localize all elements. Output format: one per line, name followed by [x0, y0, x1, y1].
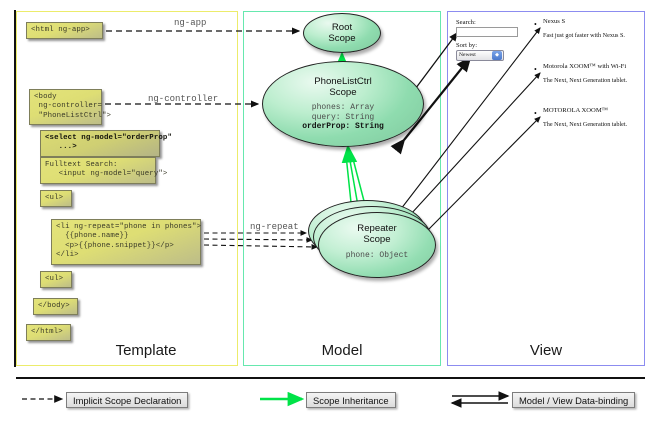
view-search-input[interactable] [456, 27, 518, 37]
scope-root: Root Scope [303, 13, 381, 53]
code-box-body: <body ng-controller= "PhoneListCtrl"> [29, 89, 102, 125]
view-phone-name: Motorola XOOM™ with Wi-Fi [543, 63, 627, 70]
legend-divider [16, 377, 645, 379]
view-phone-name: MOTOROLA XOOM™ [543, 107, 627, 114]
view-phone-list-item: • Motorola XOOM™ with Wi-Fi The Next, Ne… [543, 63, 627, 84]
code-box-body-close: </body> [33, 298, 78, 315]
scope-repeater: Repeater Scope phone: Object [318, 212, 436, 278]
scope-repeater-title: Repeater Scope [319, 223, 435, 245]
panel-view-label: View [448, 342, 644, 359]
scope-prop-orderprop: orderProp: String [302, 122, 384, 131]
scope-root-title: Root Scope [328, 22, 355, 44]
scope-repeater-properties: phone: Object [319, 251, 435, 260]
bullet-icon: • [534, 65, 537, 74]
diagram-canvas: Template Model View [0, 0, 661, 425]
view-phone-snippet: The Next, Next Generation tablet. [543, 77, 627, 84]
panel-template-label: Template [17, 342, 237, 359]
legend-item-implicit-scope-declaration: Implicit Scope Declaration [66, 392, 188, 408]
code-box-html-close: </html> [26, 324, 71, 341]
arrow-label-ng-app: ng-app [174, 18, 206, 28]
arrow-label-ng-controller: ng-controller [148, 94, 218, 104]
arrow-label-ng-repeat: ng-repeat [250, 222, 299, 232]
code-box-li-repeat: <li ng-repeat="phone in phones"> {{phone… [51, 219, 201, 265]
legend-item-scope-inheritance: Scope Inheritance [306, 392, 396, 408]
code-box-select: <select ng-model="orderProp" ...> [40, 130, 160, 157]
code-box-ul-close: <ul> [40, 271, 72, 288]
scope-phonelistctrl-properties: phones: Array query: StringorderProp: St… [263, 103, 423, 132]
view-phone-list-item: • Nexus S Fast just got faster with Nexu… [543, 18, 625, 39]
view-search-label: Search: [456, 19, 476, 26]
code-box-ul-open: <ul> [40, 190, 72, 207]
scope-prop-plain: phones: Array query: String [312, 103, 374, 122]
scope-phonelistctrl: PhoneListCtrl Scope phones: Array query:… [262, 61, 424, 147]
bullet-icon: • [534, 20, 537, 29]
template-panel-edge-accent [14, 10, 16, 367]
scope-phonelistctrl-title: PhoneListCtrl Scope [263, 76, 423, 98]
code-box-html-open: <html ng-app> [26, 22, 103, 39]
panel-model-label: Model [244, 342, 440, 359]
legend-glyph-model-view-data-binding [452, 396, 508, 403]
view-phone-name: Nexus S [543, 18, 625, 25]
view-phone-snippet: The Next, Next Generation tablet. [543, 121, 627, 128]
view-phone-snippet: Fast just got faster with Nexus S. [543, 32, 625, 39]
chevron-down-icon[interactable]: ◆ [492, 51, 502, 60]
bullet-icon: • [534, 109, 537, 118]
code-box-fulltext-search: Fulltext Search: <input ng-model="query"… [40, 157, 156, 184]
view-phone-list-item: • MOTOROLA XOOM™ The Next, Next Generati… [543, 107, 627, 128]
view-sort-label: Sort by: [456, 42, 477, 49]
legend-item-model-view-data-binding: Model / View Data-binding [512, 392, 635, 408]
